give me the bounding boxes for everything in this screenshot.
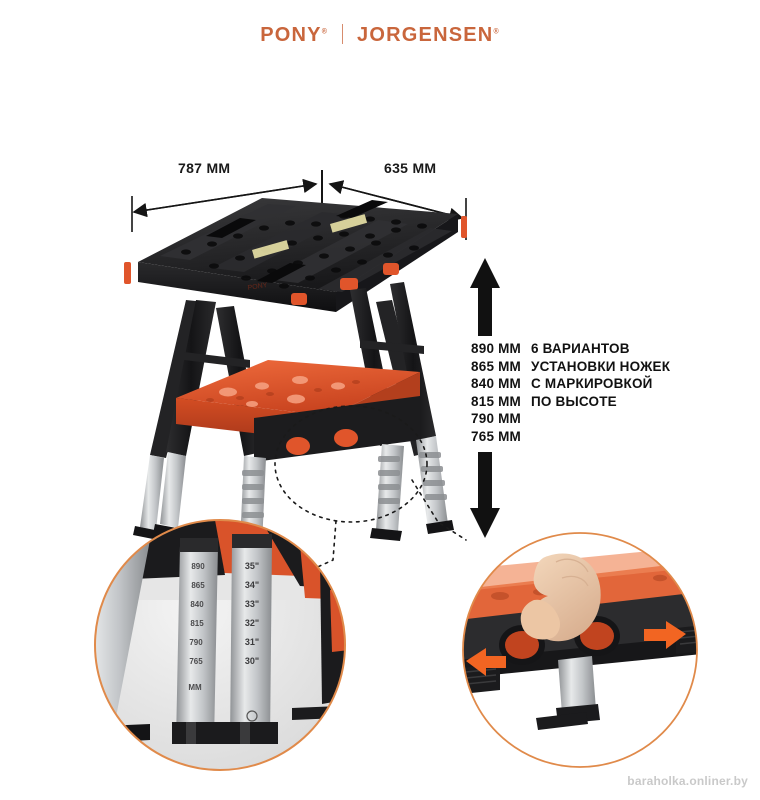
svg-text:33": 33" bbox=[245, 599, 259, 609]
brand-separator bbox=[342, 24, 343, 44]
telescoping-legs bbox=[133, 436, 454, 554]
svg-text:PONY: PONY bbox=[247, 282, 268, 292]
svg-text:815: 815 bbox=[190, 619, 204, 628]
feature-caption: 6 ВАРИАНТОВ УСТАНОВКИ НОЖЕК С МАРКИРОВКО… bbox=[531, 340, 756, 410]
inset-release-button bbox=[455, 533, 722, 767]
brand-jorgensen-registered: ® bbox=[493, 28, 499, 35]
brand-logo: PONY®JORGENSEN® bbox=[0, 24, 760, 47]
shelf-release-button bbox=[334, 429, 358, 447]
callout-highlight-ellipse bbox=[275, 406, 427, 522]
shelf-release-button bbox=[286, 437, 310, 455]
table-top: PONY bbox=[124, 198, 467, 312]
inset-leg-scale: 890 865 840 815 790 765 MM 35" 34" 33" 3… bbox=[60, 510, 400, 770]
caption-line-2: УСТАНОВКИ НОЖЕК bbox=[531, 358, 756, 376]
clamp-peg bbox=[124, 262, 131, 284]
svg-text:35": 35" bbox=[245, 561, 259, 571]
lock-icon bbox=[247, 711, 257, 721]
height-option-6: 765 MM bbox=[455, 428, 521, 446]
deck-label bbox=[252, 240, 289, 259]
height-option-1: 890 MM bbox=[455, 340, 521, 358]
svg-text:32": 32" bbox=[245, 618, 259, 628]
svg-text:890: 890 bbox=[191, 562, 205, 571]
height-option-3: 840 MM bbox=[455, 375, 521, 393]
front-release-button bbox=[291, 293, 307, 305]
orange-shelf bbox=[176, 360, 420, 462]
front-release-button bbox=[383, 263, 399, 275]
svg-text:30": 30" bbox=[245, 656, 259, 666]
svg-text:840: 840 bbox=[190, 600, 204, 609]
height-option-5: 790 MM bbox=[455, 410, 521, 428]
dimension-label-width: 787 MM bbox=[178, 160, 230, 176]
caption-line-3: С МАРКИРОВКОЙ bbox=[531, 375, 756, 393]
front-release-button bbox=[340, 278, 358, 290]
svg-text:765: 765 bbox=[189, 657, 203, 666]
svg-text:34": 34" bbox=[245, 580, 259, 590]
workbench-body: PONY bbox=[124, 198, 467, 554]
direction-arrows bbox=[466, 621, 686, 676]
deck-label bbox=[330, 214, 367, 233]
product-infographic: PONY®JORGENSEN® bbox=[0, 0, 760, 800]
height-option-2: 865 MM bbox=[455, 358, 521, 376]
svg-text:865: 865 bbox=[191, 581, 205, 590]
hand-illustration bbox=[521, 554, 601, 642]
brand-pony: PONY bbox=[260, 24, 321, 46]
clamp-peg bbox=[461, 216, 467, 238]
dimension-label-depth: 635 MM bbox=[384, 160, 436, 176]
brand-jorgensen: JORGENSEN bbox=[357, 24, 493, 46]
caption-line-4: ПО ВЫСОТЕ bbox=[531, 393, 756, 411]
brand-pony-registered: ® bbox=[322, 28, 328, 35]
site-watermark: baraholka.onliner.by bbox=[627, 774, 748, 788]
dimension-lines bbox=[132, 170, 466, 240]
svg-text:31": 31" bbox=[245, 637, 259, 647]
svg-text:MM: MM bbox=[188, 683, 202, 692]
rear-legs bbox=[150, 300, 430, 458]
height-options-list: 890 MM 865 MM 840 MM 815 MM 790 MM 765 M… bbox=[455, 340, 521, 446]
dim-arrow-635 bbox=[330, 184, 462, 218]
dim-arrow-787 bbox=[134, 184, 316, 212]
svg-text:790: 790 bbox=[189, 638, 203, 647]
height-option-4: 815 MM bbox=[455, 393, 521, 411]
front-legs bbox=[166, 282, 436, 456]
caption-line-1: 6 ВАРИАНТОВ bbox=[531, 340, 756, 358]
callout-leader-lines bbox=[300, 480, 466, 575]
